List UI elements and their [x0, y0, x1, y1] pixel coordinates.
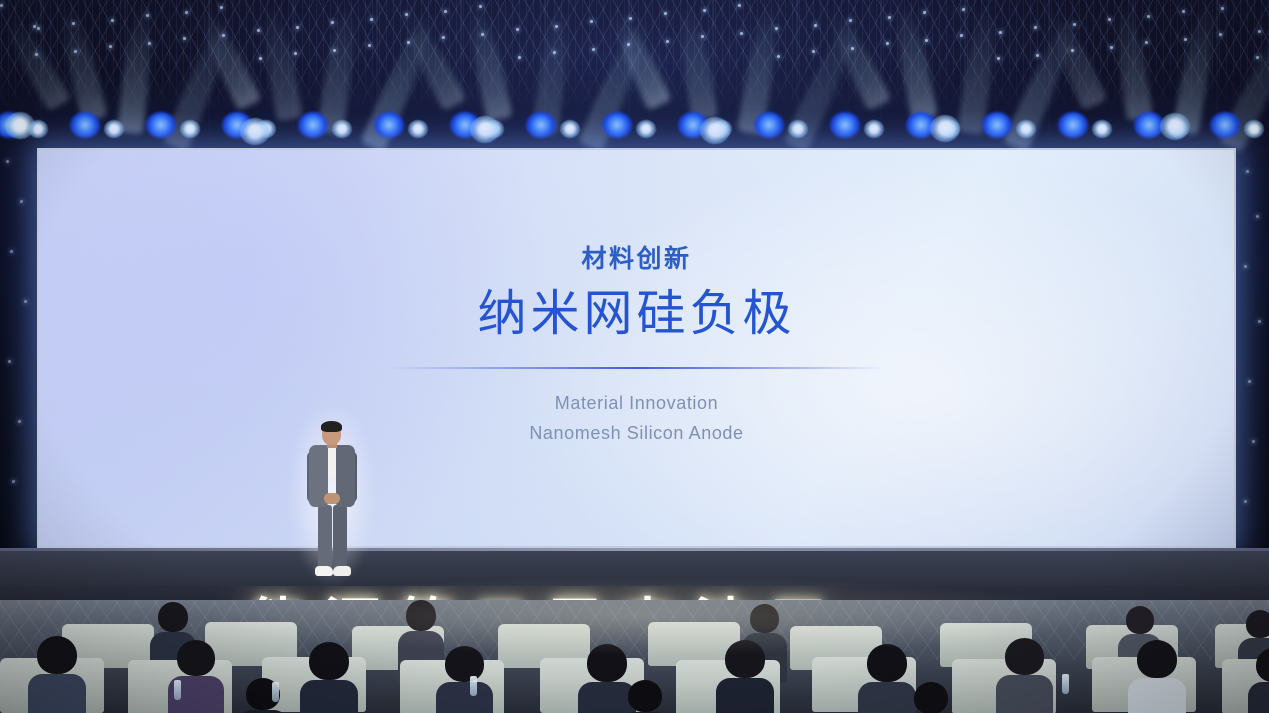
audience-member-head — [177, 640, 215, 676]
blue-wash-light — [982, 112, 1012, 138]
white-spot-light — [332, 120, 352, 138]
audience-member-torso — [716, 678, 774, 713]
truss-pin-light — [740, 32, 743, 35]
truss-pin-light — [664, 12, 667, 15]
water-bottle — [470, 676, 477, 696]
truss-pin-light — [333, 49, 336, 52]
truss-pin-light — [35, 53, 38, 56]
blue-wash-light — [602, 112, 632, 138]
wall-pin-light — [1244, 265, 1247, 268]
audience-member-head — [406, 600, 436, 631]
truss-pin-light — [1221, 7, 1224, 10]
audience-member — [906, 682, 956, 713]
truss-pin-light — [886, 42, 889, 45]
truss-pin-light — [33, 25, 36, 28]
audience-member-torso — [1248, 682, 1269, 713]
audience-member-torso — [300, 680, 358, 713]
audience-member — [716, 640, 774, 713]
key-spot-light — [240, 118, 270, 145]
presentation-slide: 材料创新 纳米网硅负极 Material Innovation Nanomesh… — [39, 150, 1234, 546]
truss-pin-light — [553, 51, 556, 54]
truss-pin-light — [1184, 38, 1187, 41]
speaker-leg-right — [333, 505, 347, 568]
blue-wash-light — [298, 112, 328, 138]
audience-member-head — [725, 640, 765, 678]
stage-scene: 材料创新 纳米网硅负极 Material Innovation Nanomesh… — [0, 0, 1269, 713]
truss-pin-light — [148, 42, 151, 45]
truss-pin-light — [74, 50, 77, 53]
truss-pin-light — [185, 11, 188, 14]
audience-member — [1128, 640, 1186, 713]
truss-pin-light — [146, 14, 149, 17]
truss-pin-light — [183, 37, 186, 40]
truss-pin-light — [444, 10, 447, 13]
audience-member-head — [1126, 606, 1154, 634]
truss-pin-light — [481, 33, 484, 36]
audience-member-head — [158, 602, 188, 632]
speaker-hands — [324, 493, 340, 504]
key-spot-light — [1160, 113, 1190, 140]
audience-member-head — [914, 682, 948, 713]
wall-pin-light — [1252, 440, 1255, 443]
water-bottle — [272, 682, 279, 702]
key-spot-light — [470, 116, 500, 143]
truss-pin-light — [888, 16, 891, 19]
truss-pin-light — [627, 43, 630, 46]
truss-pin-light — [590, 20, 593, 23]
truss-pin-light — [72, 22, 75, 25]
truss-pin-light — [703, 9, 706, 12]
truss-pin-light — [294, 52, 297, 55]
audience-member-torso — [996, 675, 1053, 713]
truss-pin-light — [368, 44, 371, 47]
truss-pin-light — [849, 19, 852, 22]
truss-pin-light — [812, 50, 815, 53]
blue-wash-light — [754, 112, 784, 138]
truss-pin-light — [296, 26, 299, 29]
white-spot-light — [1016, 120, 1036, 138]
speaker-hair — [321, 421, 342, 432]
audience-member — [28, 636, 86, 713]
truss-pin-light — [1219, 33, 1222, 36]
wall-pin-light — [24, 300, 27, 303]
wall-pin-light — [18, 420, 21, 423]
audience-member-head — [37, 636, 77, 674]
white-spot-light — [104, 120, 124, 138]
key-spot-light — [930, 115, 960, 142]
slide-divider — [388, 367, 885, 369]
truss-pin-light — [1147, 15, 1150, 18]
truss-pin-light — [1256, 56, 1259, 59]
audience-member — [1248, 648, 1269, 713]
audience-area — [0, 600, 1269, 713]
truss-pin-light — [851, 47, 854, 50]
truss-pin-light — [1034, 26, 1037, 29]
audience-member-head — [587, 644, 627, 682]
truss-pin-light — [962, 8, 965, 11]
truss-pin-light — [999, 31, 1002, 34]
audience-member-torso — [436, 682, 493, 713]
truss-pin-light — [555, 25, 558, 28]
audience-member-head — [1246, 610, 1269, 638]
audience-member-head — [1005, 638, 1044, 675]
white-spot-light — [180, 120, 200, 138]
truss-pin-light — [111, 19, 114, 22]
led-screen: 材料创新 纳米网硅负极 Material Innovation Nanomesh… — [37, 148, 1236, 548]
truss-pin-light — [960, 34, 963, 37]
audience-member-head — [1137, 640, 1177, 678]
truss-pin-light — [370, 18, 373, 21]
truss-pin-light — [925, 39, 928, 42]
truss-pin-light — [592, 48, 595, 51]
truss-pin-light — [997, 57, 1000, 60]
truss-pin-light — [1108, 18, 1111, 21]
truss-pin-light — [259, 57, 262, 60]
wall-pin-light — [10, 250, 13, 253]
slide-headline: 纳米网硅负极 — [39, 287, 1234, 342]
wall-pin-light — [1246, 170, 1249, 173]
truss-pin-light — [1145, 41, 1148, 44]
blue-wash-light — [1210, 112, 1240, 138]
truss-pin-light — [0, 4, 3, 7]
truss-pin-light — [1036, 54, 1039, 57]
white-spot-light — [560, 120, 580, 138]
white-spot-light — [1092, 120, 1112, 138]
truss-pin-light — [220, 6, 223, 9]
truss-pin-light — [814, 24, 817, 27]
audience-member-head — [445, 646, 484, 682]
truss-pin-light — [1071, 49, 1074, 52]
truss-pin-light — [109, 45, 112, 48]
white-spot-light — [1244, 120, 1264, 138]
blue-wash-light — [1058, 112, 1088, 138]
audience-member-torso — [28, 674, 86, 713]
wall-pin-light — [1244, 500, 1247, 503]
key-spot-light — [5, 112, 35, 139]
slide-subtitle-en-line1: Material Innovation — [39, 393, 1234, 414]
white-spot-light — [636, 120, 656, 138]
audience-member-torso — [1128, 678, 1186, 713]
audience-member-head — [1256, 648, 1269, 682]
truss-pin-light — [479, 5, 482, 8]
audience-member-head — [867, 644, 907, 682]
blue-wash-light — [374, 112, 404, 138]
blue-wash-light — [526, 112, 556, 138]
truss-pin-light — [775, 27, 778, 30]
slide-kicker: 材料创新 — [39, 246, 1234, 274]
truss-pin-light — [257, 29, 260, 32]
water-bottle — [1062, 674, 1069, 694]
truss-pin-light — [629, 17, 632, 20]
truss-pin-light — [331, 21, 334, 24]
wall-pin-light — [6, 160, 9, 163]
truss-pin-light — [1258, 30, 1261, 33]
truss-pin-light — [1073, 23, 1076, 26]
speaker-leg-left — [318, 505, 332, 568]
speaker-shoe-left — [315, 566, 333, 576]
audience-member-head — [628, 680, 662, 712]
blue-wash-light — [146, 112, 176, 138]
wall-pin-light — [1258, 320, 1261, 323]
audience-member-head — [750, 604, 779, 633]
audience-member — [996, 638, 1053, 713]
audience-member — [620, 680, 670, 713]
truss-pin-light — [405, 13, 408, 16]
slide-content: 材料创新 纳米网硅负极 Material Innovation Nanomesh… — [39, 246, 1234, 444]
wall-pin-light — [12, 480, 15, 483]
truss-pin-light — [516, 28, 519, 31]
wall-pin-light — [1256, 215, 1259, 218]
truss-pin-light — [1182, 10, 1185, 13]
audience-member — [238, 678, 288, 713]
audience-member — [300, 642, 358, 713]
wall-pin-light — [20, 200, 23, 203]
speaker-shoe-right — [333, 566, 351, 576]
truss-pin-light — [222, 34, 225, 37]
white-spot-light — [864, 120, 884, 138]
truss-pin-light — [701, 35, 704, 38]
truss-pin-light — [518, 56, 521, 59]
audience-member — [436, 646, 493, 713]
truss-pin-light — [666, 40, 669, 43]
key-spot-light — [700, 117, 730, 144]
wall-pin-light — [8, 360, 11, 363]
truss-pin-light — [407, 41, 410, 44]
audience-member-head — [309, 642, 349, 680]
blue-wash-light — [70, 112, 100, 138]
truss-pin-light — [777, 55, 780, 58]
truss-pin-light — [923, 11, 926, 14]
truss-pin-light — [1110, 46, 1113, 49]
water-bottle — [174, 680, 181, 700]
slide-subtitle-en-line2: Nanomesh Silicon Anode — [39, 423, 1234, 444]
audience-member — [168, 640, 224, 713]
wall-pin-light — [1248, 380, 1251, 383]
speaker-figure — [300, 421, 364, 578]
truss-pin-light — [738, 4, 741, 7]
white-spot-light — [408, 120, 428, 138]
blue-wash-light — [830, 112, 860, 138]
truss-pin-light — [442, 36, 445, 39]
white-spot-light — [788, 120, 808, 138]
truss-pin-light — [37, 27, 40, 30]
